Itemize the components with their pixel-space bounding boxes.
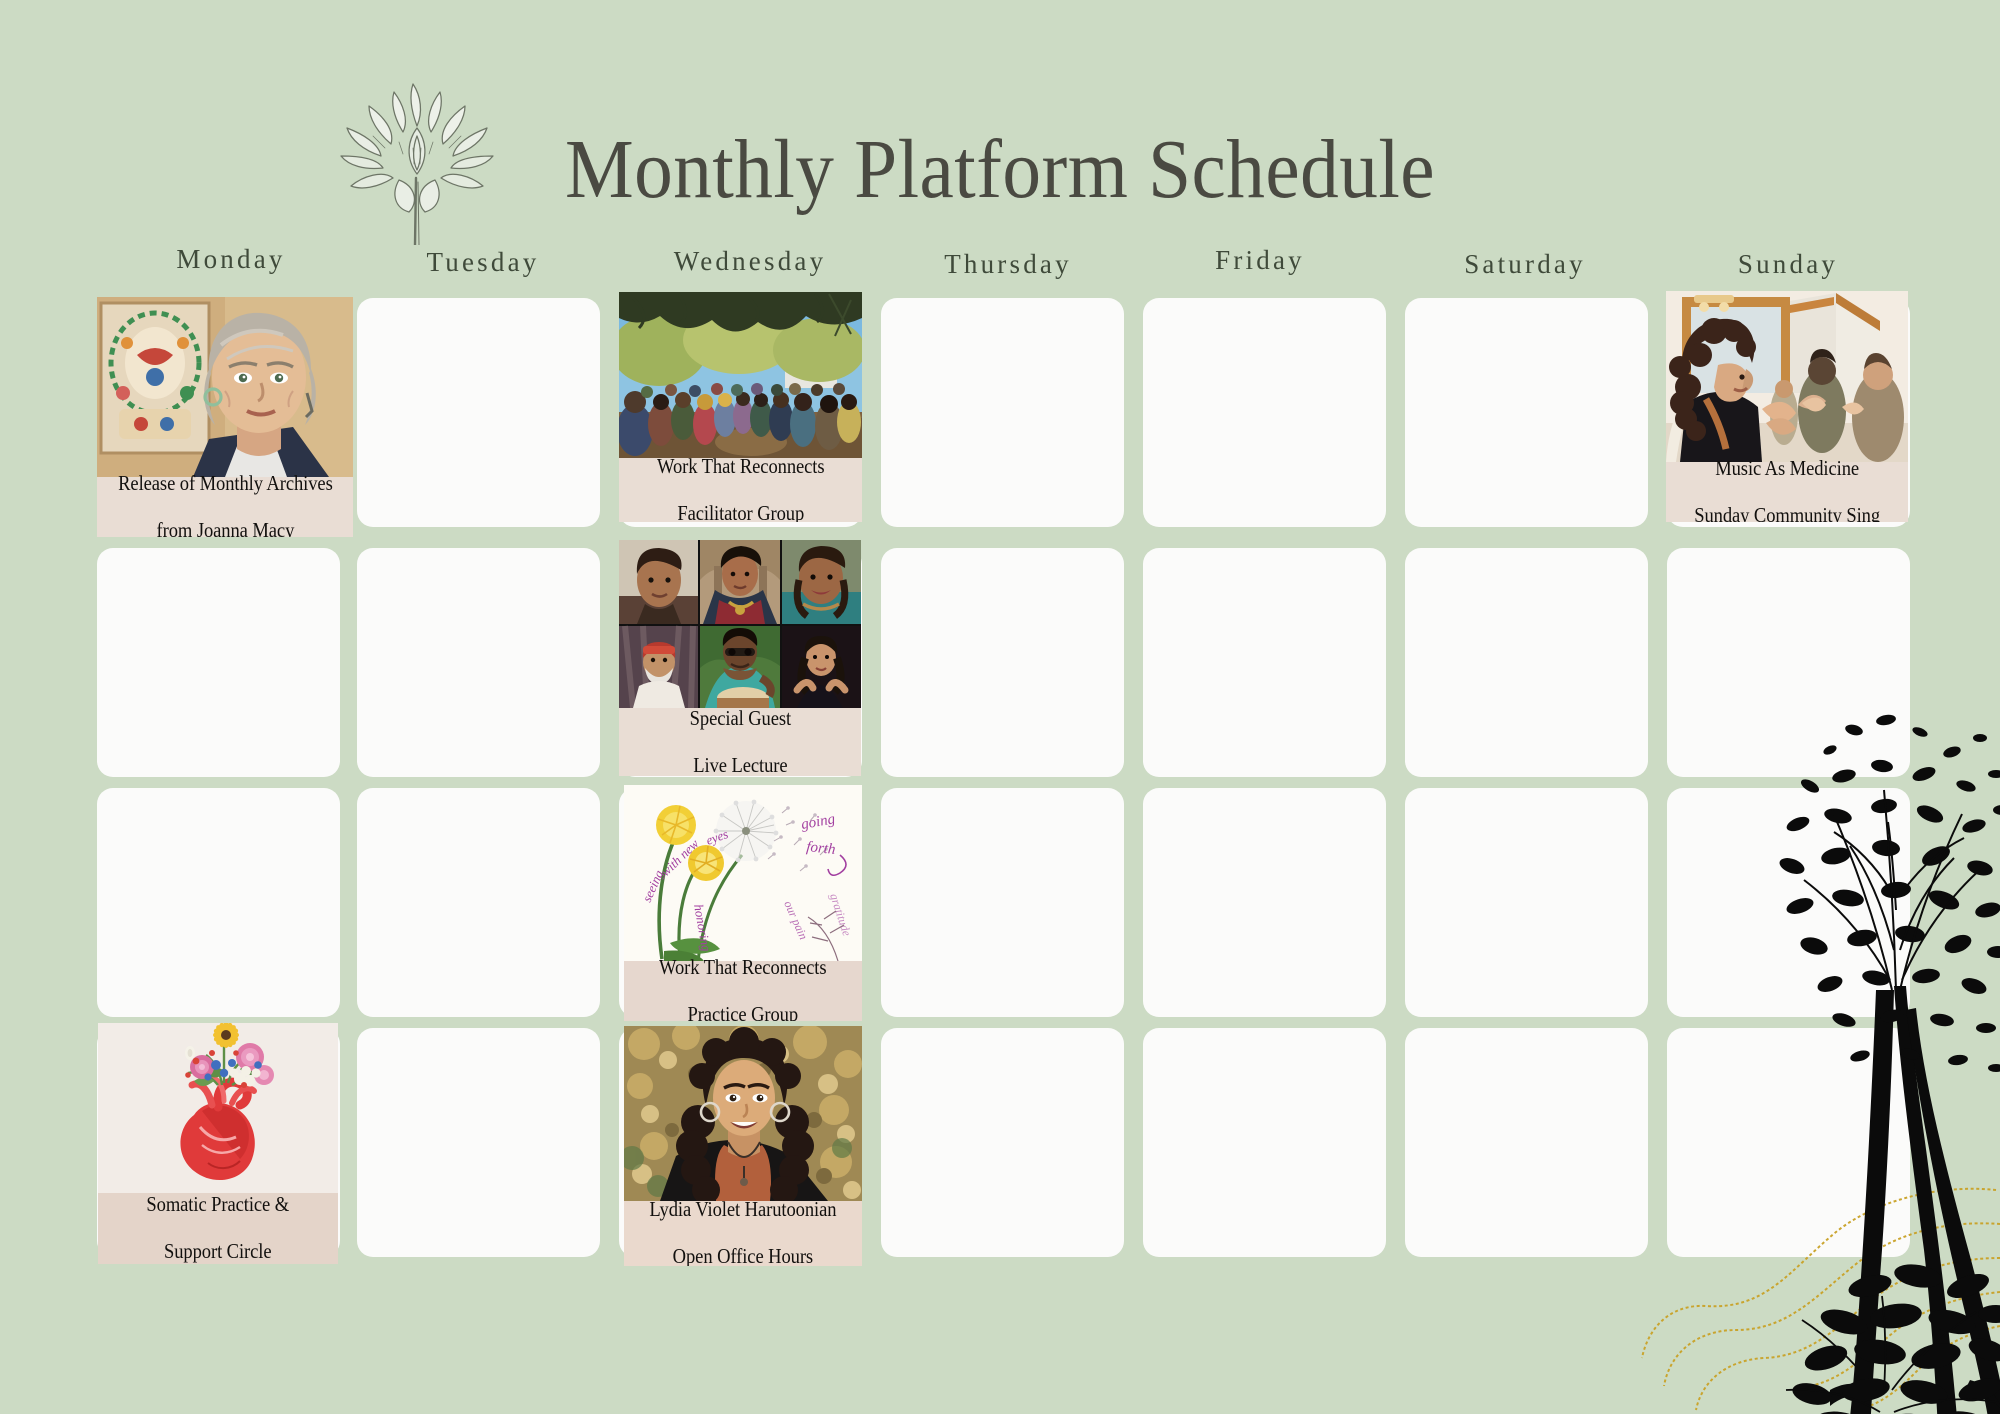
community-sing-photo — [1666, 291, 1908, 462]
event-caption-line1: Release of Monthly Archives — [118, 472, 333, 496]
event-caption-line2: Sunday Community Sing — [1694, 504, 1880, 522]
anatomical-heart-flowers-illustration — [98, 1023, 338, 1193]
calendar-cell-sat-w3[interactable] — [1405, 788, 1648, 1017]
event-caption-line2: Support Circle — [147, 1240, 290, 1264]
event-card-somatic-practice-support-circle[interactable]: Somatic Practice & Support Circle — [98, 1023, 338, 1264]
calendar-cell-sat-w1[interactable] — [1405, 298, 1648, 527]
event-card-lydia-violet-open-office-hours[interactable]: Lydia Violet Harutoonian Open Office Hou… — [624, 1026, 862, 1266]
event-card-wtr-practice-group[interactable]: seeing with new eyes going forth honorin… — [624, 785, 862, 1021]
schedule-poster: Monthly Platform Schedule Monday Tuesday… — [0, 0, 2000, 1414]
event-caption-line1: Work That Reconnects — [657, 455, 824, 479]
calendar-cell-tue-w3[interactable] — [357, 788, 600, 1017]
event-caption-line2: Practice Group — [659, 1003, 826, 1021]
dandelion-spiral-illustration: seeing with new eyes going forth honorin… — [624, 785, 862, 961]
calendar-cell-thu-w4[interactable] — [881, 1028, 1124, 1257]
event-card-special-guest-live-lecture[interactable]: Special Guest Live Lecture — [619, 540, 861, 776]
event-card-release-of-monthly-archives[interactable]: Release of Monthly Archives from Joanna … — [97, 297, 353, 537]
tree-silhouette-icon — [1680, 690, 2000, 1414]
portrait-joanna-macy-photo — [97, 297, 353, 477]
event-caption-line1: Special Guest — [689, 707, 790, 731]
event-card-wtr-facilitator-group[interactable]: Work That Reconnects Facilitator Group — [619, 292, 862, 522]
calendar-cell-fri-w3[interactable] — [1143, 788, 1386, 1017]
calendar-cell-tue-w1[interactable] — [357, 298, 600, 527]
calendar-cell-sat-w4[interactable] — [1405, 1028, 1648, 1257]
calendar-cell-thu-w3[interactable] — [881, 788, 1124, 1017]
calendar-cell-fri-w4[interactable] — [1143, 1028, 1386, 1257]
event-caption-line2: Open Office Hours — [649, 1245, 836, 1266]
calendar-cell-sat-w2[interactable] — [1405, 548, 1648, 777]
calendar-cell-mon-w3[interactable] — [97, 788, 340, 1017]
event-caption-line2: Facilitator Group — [657, 502, 824, 522]
outdoor-crowd-gathering-photo — [619, 292, 862, 458]
event-caption-line1: Somatic Practice & — [147, 1193, 290, 1217]
event-caption-line2: Live Lecture — [689, 754, 790, 776]
calendar-cell-mon-w2[interactable] — [97, 548, 340, 777]
calendar-cell-tue-w2[interactable] — [357, 548, 600, 777]
calendar-cell-tue-w4[interactable] — [357, 1028, 600, 1257]
speaker-portrait-grid-photo — [619, 540, 861, 708]
calendar-cell-thu-w2[interactable] — [881, 548, 1124, 777]
calendar-cell-fri-w2[interactable] — [1143, 548, 1386, 777]
event-caption-line1: Lydia Violet Harutoonian — [649, 1198, 836, 1222]
event-caption-line1: Music As Medicine — [1694, 457, 1880, 481]
calendar-cell-thu-w1[interactable] — [881, 298, 1124, 527]
portrait-lydia-violet-photo — [624, 1026, 862, 1201]
calendar-cell-fri-w1[interactable] — [1143, 298, 1386, 527]
event-caption-line1: Work That Reconnects — [659, 956, 826, 980]
event-caption-line2: from Joanna Macy — [118, 519, 333, 537]
svg-text:forth: forth — [806, 839, 837, 858]
event-card-music-as-medicine[interactable]: Music As Medicine Sunday Community Sing — [1666, 291, 1908, 522]
